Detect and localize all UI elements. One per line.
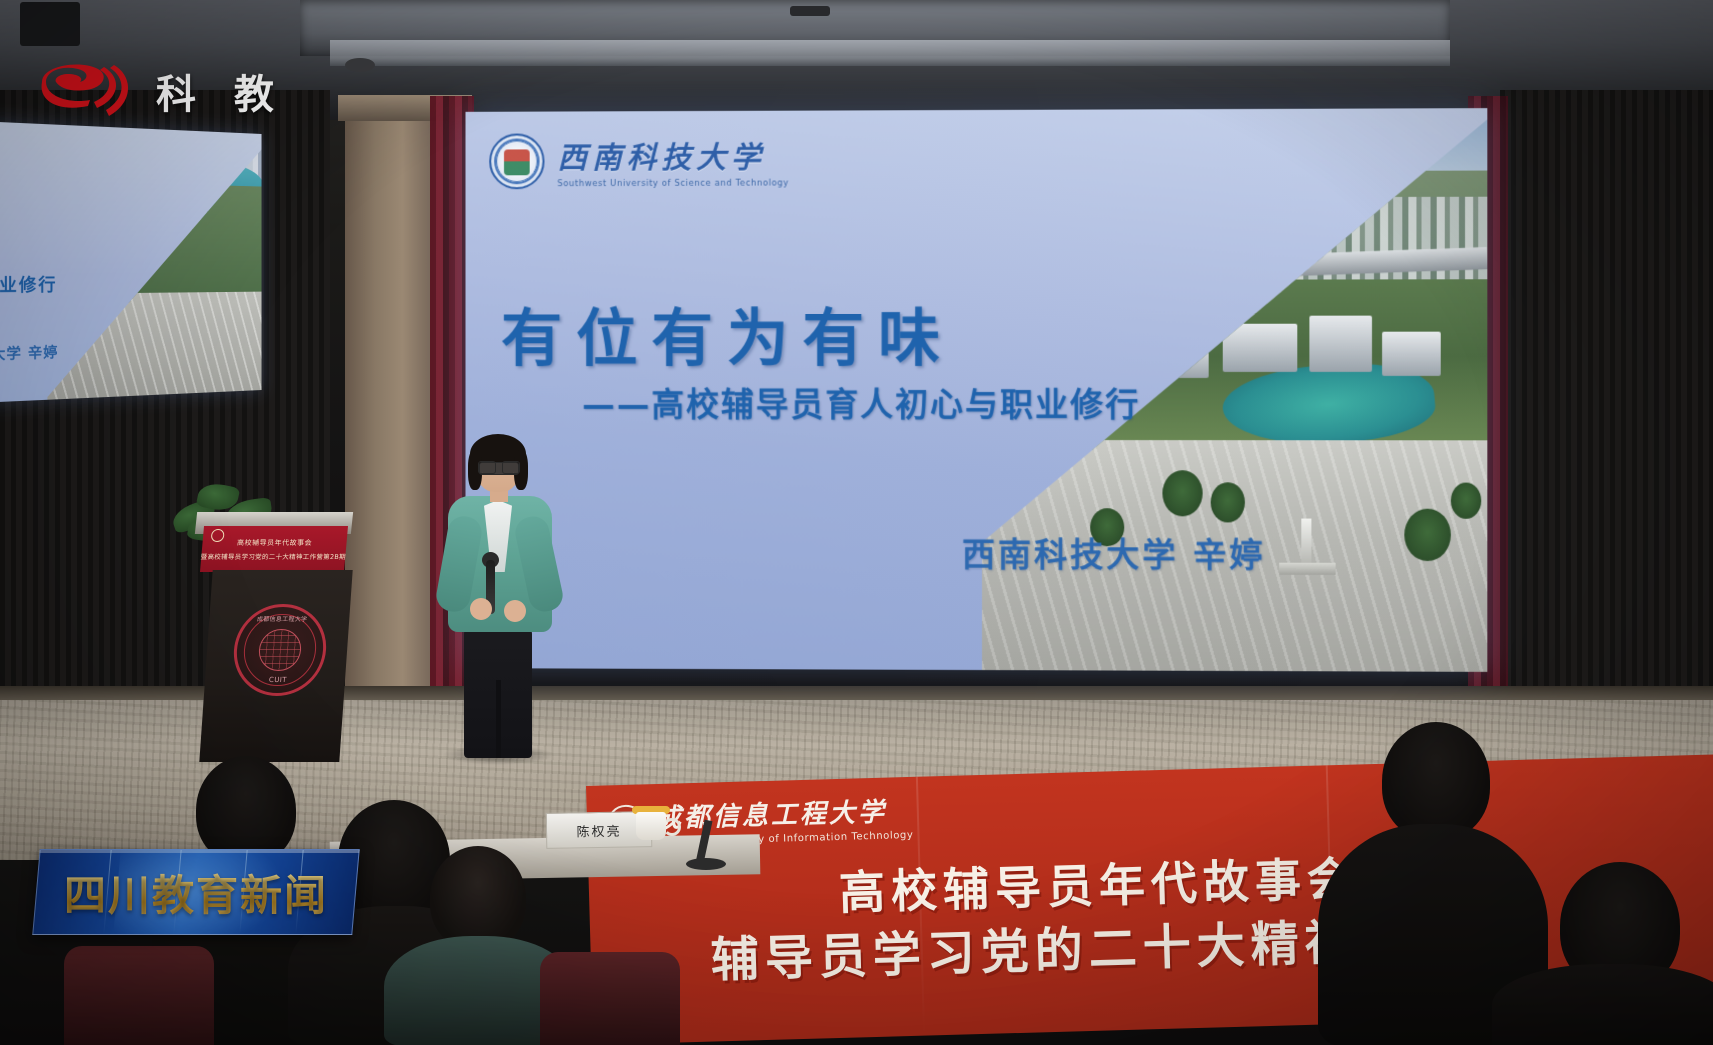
photo-tree-1 (1162, 470, 1202, 516)
photo-tree-5 (1451, 483, 1481, 519)
tea-cup (636, 812, 666, 840)
photo-building-3 (1382, 332, 1441, 376)
audience-head (430, 846, 526, 950)
slide-university-logo: 西南科技大学 Southwest University of Science a… (489, 133, 789, 190)
lower-third-banner: 四川教育新闻 (32, 849, 360, 935)
photo-monument-base (1279, 563, 1335, 575)
seal-label: CUIT (269, 676, 288, 684)
slide-subtitle: ——高校辅导员育人初心与职业修行 (582, 378, 1140, 426)
slide-title: 有位有为有味 (501, 288, 954, 378)
ceiling-light-strip-inner (330, 40, 1450, 66)
seal-top-label: 成都信息工程大学 (257, 614, 308, 623)
attendee-nameplate-text: 陈权亮 (576, 820, 621, 840)
side-slide-presenter: 技大学 辛婷 (0, 342, 58, 365)
university-emblem-icon (489, 133, 544, 189)
presenter-person (432, 440, 552, 760)
podium-sign-logo-icon (211, 529, 225, 542)
presenter-hand-left (470, 598, 492, 620)
side-slide-title: 职业修行 (0, 270, 57, 296)
photo-tree-3 (1404, 509, 1451, 561)
podium: 高校辅导员年代故事会 暨高校辅导员学习党的二十大精神工作营第2B期 成都信息工程… (196, 512, 352, 762)
photo-building-2 (1309, 316, 1372, 372)
photo-monument (1301, 519, 1311, 565)
main-projection-screen: 西南科技大学 Southwest University of Science a… (466, 108, 1488, 672)
photo-tree-2 (1211, 482, 1245, 522)
table-microphone-base (686, 858, 726, 870)
channel-name-label: 科 教 (156, 62, 286, 120)
audience-head (1382, 722, 1490, 840)
banner-host-name-cn: 成都信息工程大学 (654, 791, 913, 835)
broadcast-frame: 职业修行 技大学 辛婷 (0, 0, 1713, 1045)
ceiling-projector (345, 58, 375, 72)
podium-sign-line-1: 高校辅导员年代故事会 (237, 538, 313, 548)
presenter-hand-right (504, 600, 526, 622)
audience-chair (540, 952, 680, 1045)
program-title-label: 四川教育新闻 (37, 850, 355, 934)
cctv-swoosh-logo-icon (34, 58, 138, 124)
ceiling-vent (790, 6, 830, 16)
ceiling-speaker-left (20, 2, 80, 46)
slide-presenter-credit: 西南科技大学 辛婷 (962, 528, 1266, 577)
audience-chair (64, 946, 214, 1045)
university-name-cn: 西南科技大学 (557, 133, 789, 178)
presenter-glasses (479, 462, 519, 475)
emblem-inner-mark (504, 149, 530, 175)
secondary-projection-screen: 职业修行 技大学 辛婷 (0, 121, 262, 402)
channel-logo-bug: 科 教 (34, 58, 286, 124)
tea-cup-handle (663, 818, 681, 836)
logo-text-wrap: 西南科技大学 Southwest University of Science a… (557, 133, 789, 189)
podium-sign: 高校辅导员年代故事会 暨高校辅导员学习党的二十大精神工作营第2B期 (200, 526, 348, 572)
audience-body (1492, 964, 1713, 1045)
podium-sign-line-2: 暨高校辅导员学习党的二十大精神工作营第2B期 (200, 551, 346, 561)
presenter-leg-gap (496, 680, 501, 758)
university-name-en: Southwest University of Science and Tech… (557, 179, 789, 190)
